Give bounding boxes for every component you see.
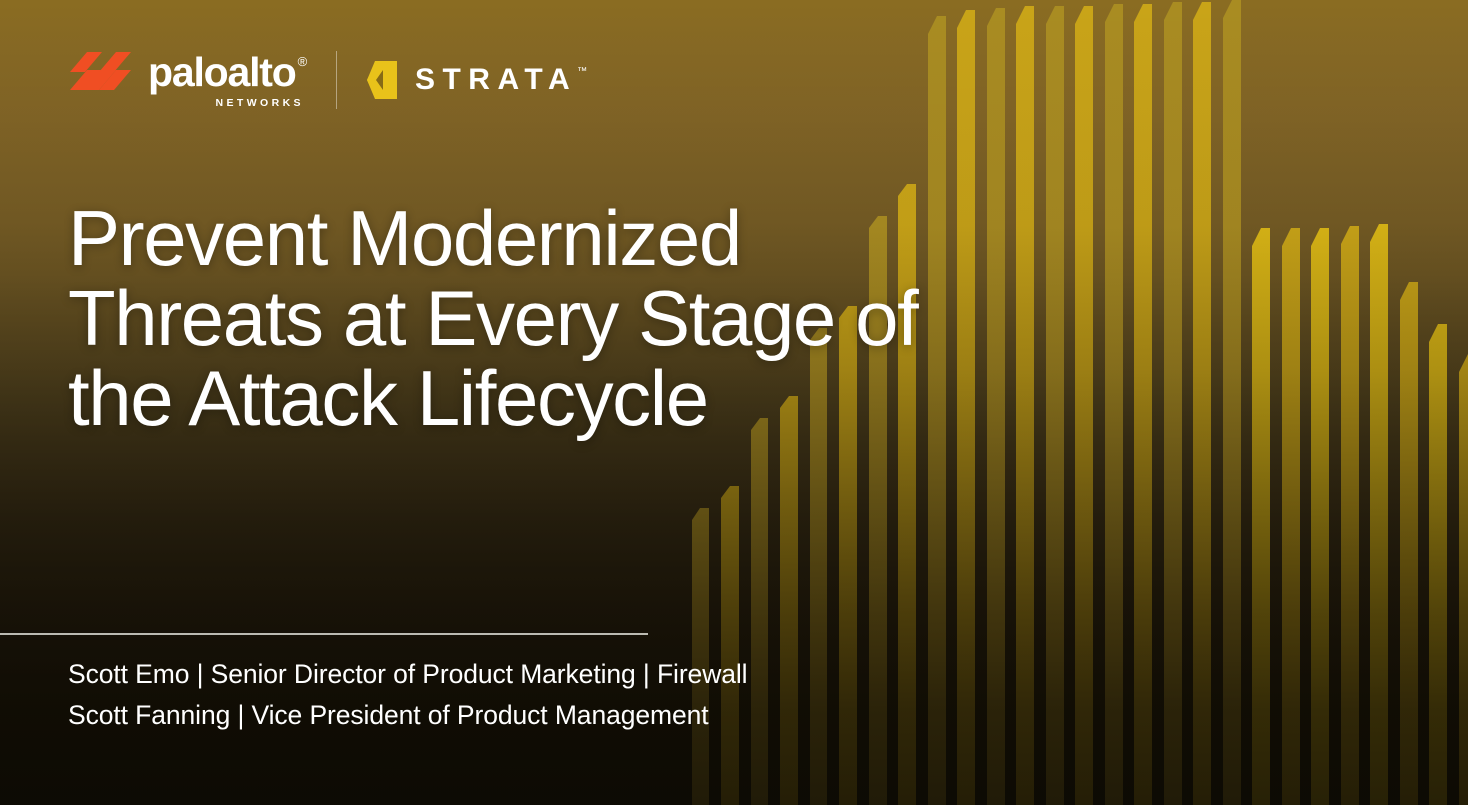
title-slide: paloalto ® NETWORKS STRATA ™: [0, 0, 1468, 805]
title-line-1: Prevent Modernized: [68, 198, 1028, 278]
title-line-2: Threats at Every Stage of: [68, 278, 1028, 358]
logo-bar: paloalto ® NETWORKS STRATA ™: [70, 50, 587, 110]
trademark-icon: ™: [577, 67, 587, 77]
page-title: Prevent Modernized Threats at Every Stag…: [68, 198, 1028, 438]
palo-alto-wordmark: paloalto: [148, 52, 296, 93]
palo-alto-tagline: NETWORKS: [216, 97, 304, 109]
palo-alto-networks-logo: paloalto ® NETWORKS: [70, 52, 306, 109]
title-line-3: the Attack Lifecycle: [68, 358, 1028, 438]
presenter-byline: Scott Emo | Senior Director of Product M…: [68, 654, 747, 736]
presenter-line-2: Scott Fanning | Vice President of Produc…: [68, 695, 747, 736]
byline-divider-rule: [0, 633, 648, 635]
strata-logo: STRATA ™: [367, 61, 587, 99]
presenter-line-1: Scott Emo | Senior Director of Product M…: [68, 654, 747, 695]
vertical-divider: [336, 51, 337, 109]
strata-wordmark: STRATA: [415, 65, 577, 95]
paloalto-networks-mark-icon: [70, 52, 132, 108]
strata-hexagon-mark-icon: [367, 61, 397, 99]
registered-trademark-icon: ®: [298, 55, 306, 68]
